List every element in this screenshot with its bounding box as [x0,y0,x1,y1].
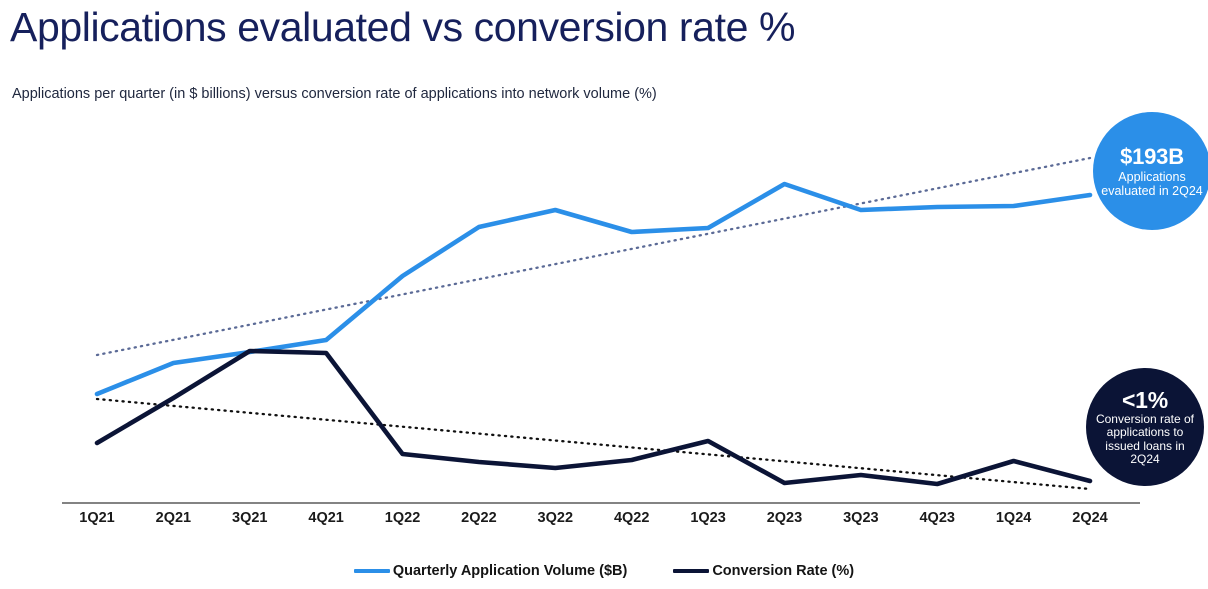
x-axis-tick-4q23: 4Q23 [919,510,954,526]
x-axis-tick-1q21: 1Q21 [79,510,114,526]
chart-legend: Quarterly Application Volume ($B)Convers… [0,563,1208,579]
volume-callout-caption: Applications evaluated in 2Q24 [1099,170,1205,198]
x-axis-tick-2q21: 2Q21 [156,510,191,526]
x-axis-tick-1q22: 1Q22 [385,510,420,526]
volume-trendline [97,158,1090,355]
volume-callout-bubble: $193B Applications evaluated in 2Q24 [1093,112,1208,230]
x-axis-tick-3q23: 3Q23 [843,510,878,526]
x-axis-tick-3q22: 3Q22 [538,510,573,526]
x-axis-tick-3q21: 3Q21 [232,510,267,526]
x-axis-tick-4q22: 4Q22 [614,510,649,526]
x-axis-labels: 1Q212Q213Q214Q211Q222Q223Q224Q221Q232Q23… [0,510,1208,534]
legend-item-conversion[interactable]: Conversion Rate (%) [673,563,854,579]
volume-series-line [97,184,1090,394]
volume-callout-value: $193B [1120,145,1184,169]
legend-label: Quarterly Application Volume ($B) [393,563,627,579]
x-axis-tick-2q24: 2Q24 [1072,510,1107,526]
x-axis-tick-1q24: 1Q24 [996,510,1031,526]
legend-label: Conversion Rate (%) [712,563,854,579]
conversion-callout-bubble: <1% Conversion rate of applications to i… [1086,368,1204,486]
legend-swatch-icon [354,569,390,573]
conversion-trendline [97,399,1090,489]
legend-item-volume[interactable]: Quarterly Application Volume ($B) [354,563,627,579]
conversion-series-line [97,351,1090,484]
line-chart-plot [0,0,1208,589]
x-axis-tick-2q22: 2Q22 [461,510,496,526]
x-axis-tick-2q23: 2Q23 [767,510,802,526]
x-axis-tick-4q21: 4Q21 [308,510,343,526]
legend-swatch-icon [673,569,709,573]
conversion-callout-value: <1% [1122,388,1168,412]
x-axis-tick-1q23: 1Q23 [690,510,725,526]
conversion-callout-caption: Conversion rate of applications to issue… [1090,413,1200,467]
